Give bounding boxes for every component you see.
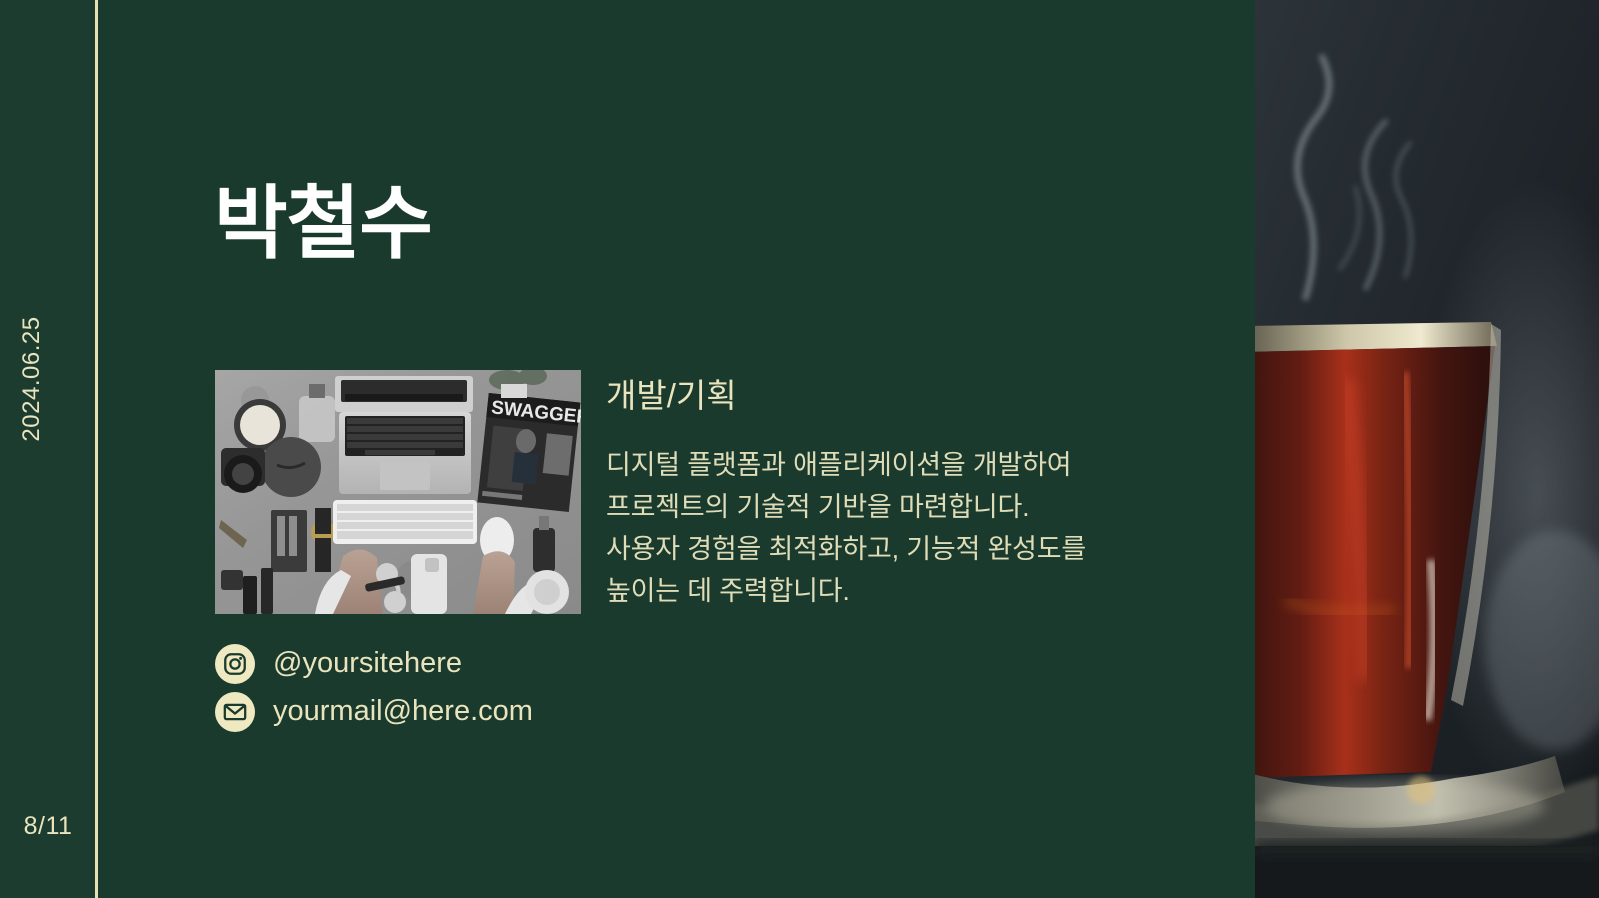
main-panel: 박철수 (98, 0, 1255, 898)
presentation-slide: 2024.06.25 8/11 박철수 (0, 0, 1599, 898)
instagram-icon (215, 644, 255, 684)
contact-list: @yoursitehere yourmail@here.com (215, 640, 533, 736)
contact-row-email[interactable]: yourmail@here.com (215, 688, 533, 735)
page-title: 박철수 (214, 182, 432, 266)
email-icon (215, 692, 255, 732)
slide-date: 2024.06.25 (18, 284, 46, 474)
contact-row-instagram[interactable]: @yoursitehere (215, 640, 533, 687)
page-indicator: 8/11 (0, 812, 96, 841)
tea-glass-photo (1255, 0, 1599, 898)
section-body: 디지털 플랫폼과 애플리케이션을 개발하여 프로젝트의 기술적 기반을 마련합니… (606, 444, 1096, 612)
left-rail: 2024.06.25 8/11 (0, 0, 96, 898)
contact-label-instagram: @yoursitehere (273, 647, 462, 680)
section-heading: 개발/기획 (606, 369, 737, 417)
desk-flatlay-photo: SWAGGER (215, 370, 581, 614)
contact-label-email: yourmail@here.com (273, 695, 533, 728)
